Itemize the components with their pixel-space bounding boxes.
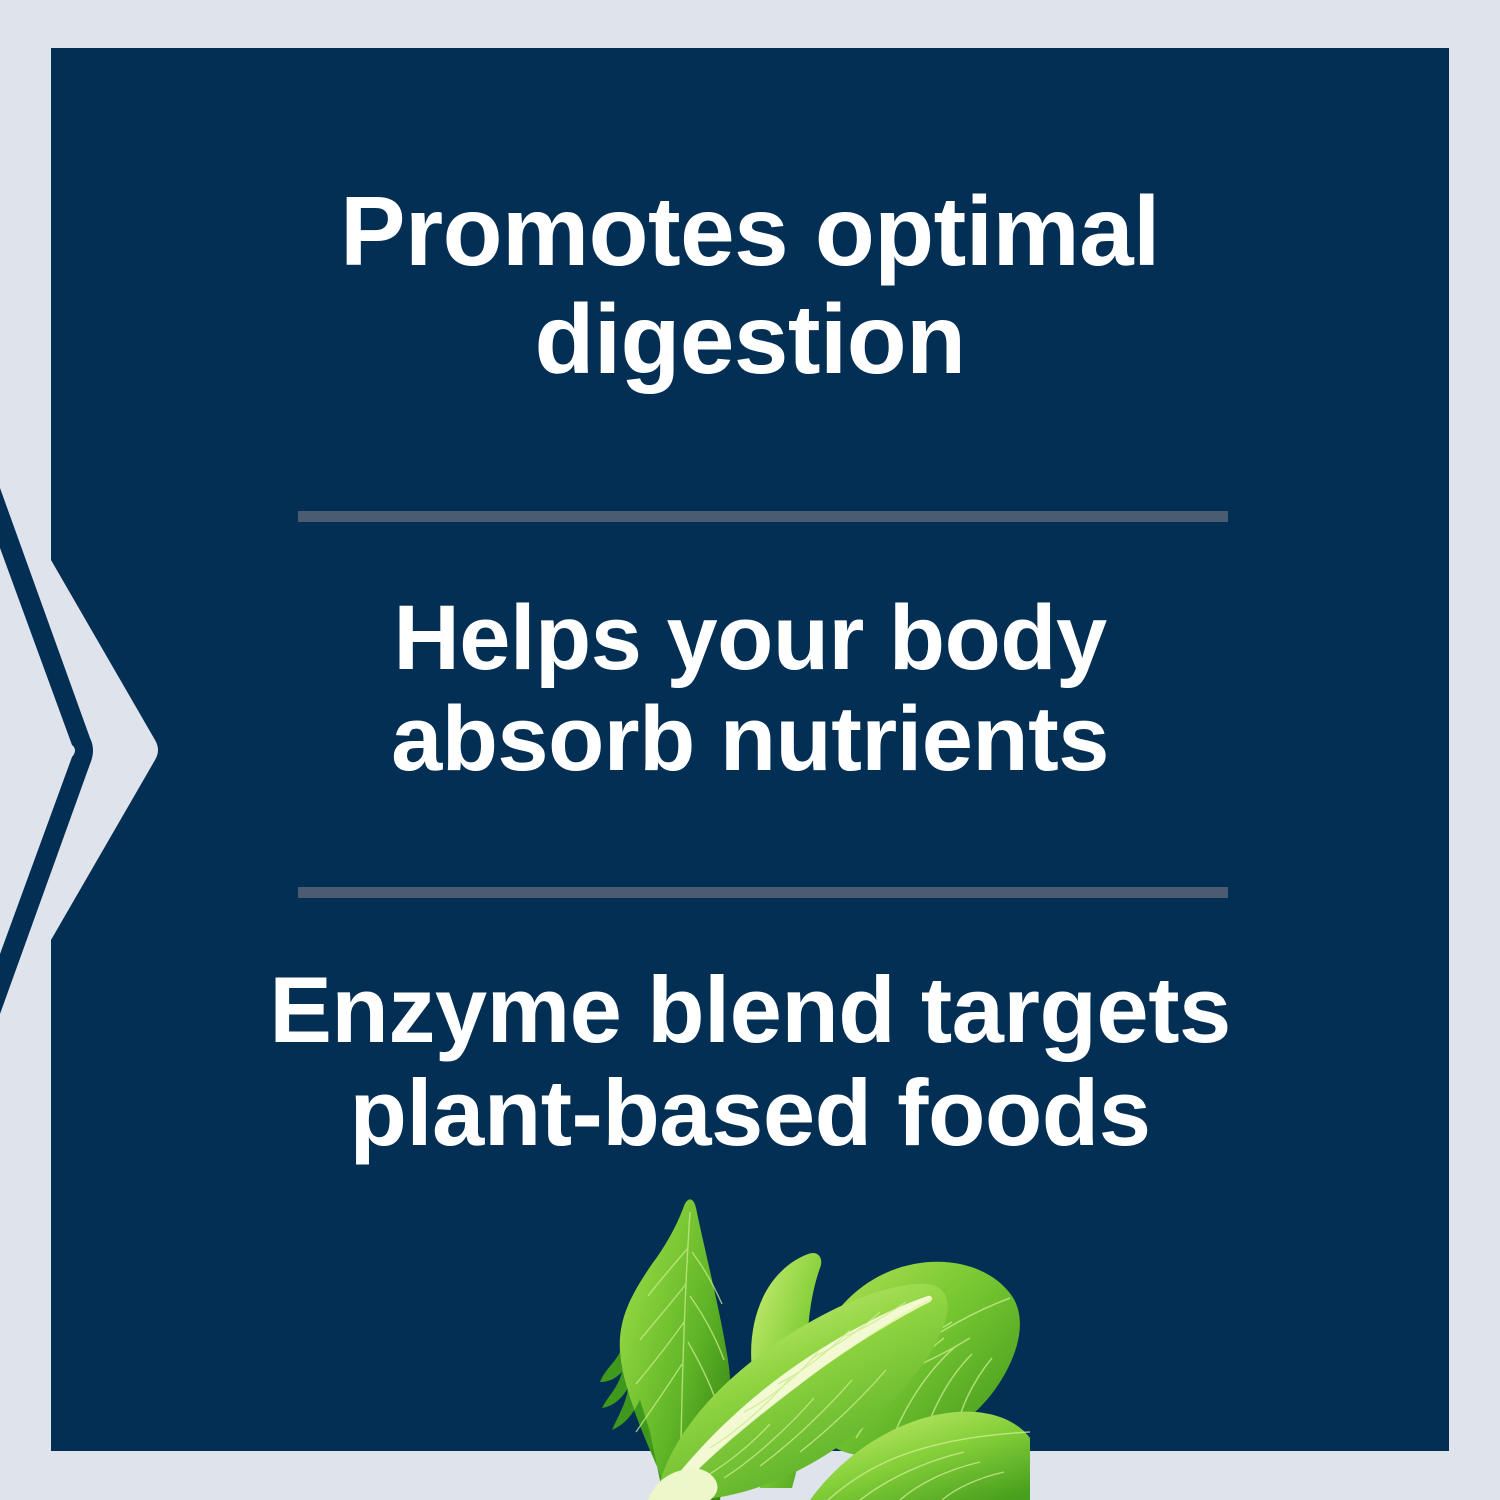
promo-panel: Promotes optimal digestion Helps your bo… xyxy=(0,0,1500,1500)
romaine-lettuce-leaves xyxy=(560,1192,1030,1500)
